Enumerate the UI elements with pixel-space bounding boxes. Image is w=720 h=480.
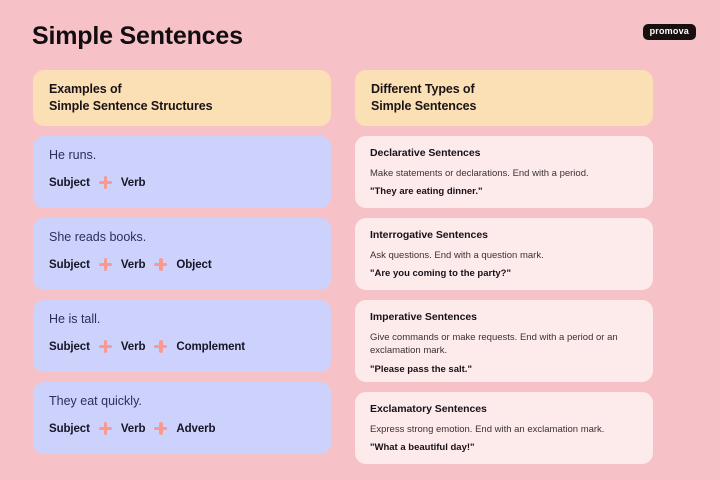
plus-icon	[154, 422, 167, 435]
left-column-header: Examples of Simple Sentence Structures	[33, 70, 331, 126]
structure-formula: Subject Verb	[49, 176, 315, 189]
structure-card: He runs. Subject Verb	[33, 136, 331, 208]
sentence-type-description: Ask questions. End with a question mark.	[370, 249, 638, 263]
plus-icon	[154, 340, 167, 353]
formula-part: Subject	[49, 341, 90, 353]
formula-part: Subject	[49, 423, 90, 435]
left-column-header-line-2: Simple Sentence Structures	[49, 98, 315, 115]
plus-icon	[154, 258, 167, 271]
sentence-type-description: Express strong emotion. End with an excl…	[370, 423, 638, 437]
structure-card: He is tall. Subject Verb Complement	[33, 300, 331, 372]
formula-part: Object	[176, 259, 211, 271]
right-column-header-line-1: Different Types of	[371, 81, 637, 98]
sentence-type-card: Imperative Sentences Give commands or ma…	[355, 300, 653, 382]
structure-formula: Subject Verb Object	[49, 258, 315, 271]
sentence-type-card: Declarative Sentences Make statements or…	[355, 136, 653, 208]
plus-icon	[99, 422, 112, 435]
plus-icon	[99, 176, 112, 189]
sentence-type-card: Exclamatory Sentences Express strong emo…	[355, 392, 653, 464]
structure-card: They eat quickly. Subject Verb Adverb	[33, 382, 331, 454]
formula-part: Verb	[121, 341, 146, 353]
sentence-type-card: Interrogative Sentences Ask questions. E…	[355, 218, 653, 290]
formula-part: Subject	[49, 177, 90, 189]
left-column: Examples of Simple Sentence Structures H…	[33, 70, 331, 464]
right-column-header: Different Types of Simple Sentences	[355, 70, 653, 126]
formula-part: Verb	[121, 177, 146, 189]
structure-card: She reads books. Subject Verb Object	[33, 218, 331, 290]
sentence-type-description: Make statements or declarations. End wit…	[370, 167, 638, 181]
sentence-type-example: "Please pass the salt."	[370, 364, 638, 377]
plus-icon	[99, 258, 112, 271]
formula-part: Subject	[49, 259, 90, 271]
sentence-type-title: Exclamatory Sentences	[370, 403, 638, 416]
sentence-type-title: Imperative Sentences	[370, 311, 638, 324]
plus-icon	[99, 340, 112, 353]
page-title: Simple Sentences	[32, 22, 243, 51]
structure-formula: Subject Verb Complement	[49, 340, 315, 353]
formula-part: Complement	[176, 341, 245, 353]
sentence-type-example: "They are eating dinner."	[370, 186, 638, 199]
sentence-type-example: "What a beautiful day!"	[370, 442, 638, 455]
sentence-type-title: Declarative Sentences	[370, 147, 638, 160]
right-column: Different Types of Simple Sentences Decl…	[355, 70, 653, 474]
structure-example-sentence: He is tall.	[49, 312, 315, 327]
promova-logo: promova	[643, 24, 696, 40]
poster-header: Simple Sentences promova	[0, 0, 720, 66]
structure-example-sentence: He runs.	[49, 148, 315, 163]
sentence-type-title: Interrogative Sentences	[370, 229, 638, 242]
sentence-type-example: "Are you coming to the party?"	[370, 268, 638, 281]
formula-part: Verb	[121, 259, 146, 271]
right-column-header-line-2: Simple Sentences	[371, 98, 637, 115]
formula-part: Adverb	[176, 423, 215, 435]
structure-example-sentence: They eat quickly.	[49, 394, 315, 409]
structure-formula: Subject Verb Adverb	[49, 422, 315, 435]
left-column-header-line-1: Examples of	[49, 81, 315, 98]
structure-example-sentence: She reads books.	[49, 230, 315, 245]
sentence-type-description: Give commands or make requests. End with…	[370, 331, 638, 359]
formula-part: Verb	[121, 423, 146, 435]
infographic-poster: Simple Sentences promova Examples of Sim…	[0, 0, 720, 480]
